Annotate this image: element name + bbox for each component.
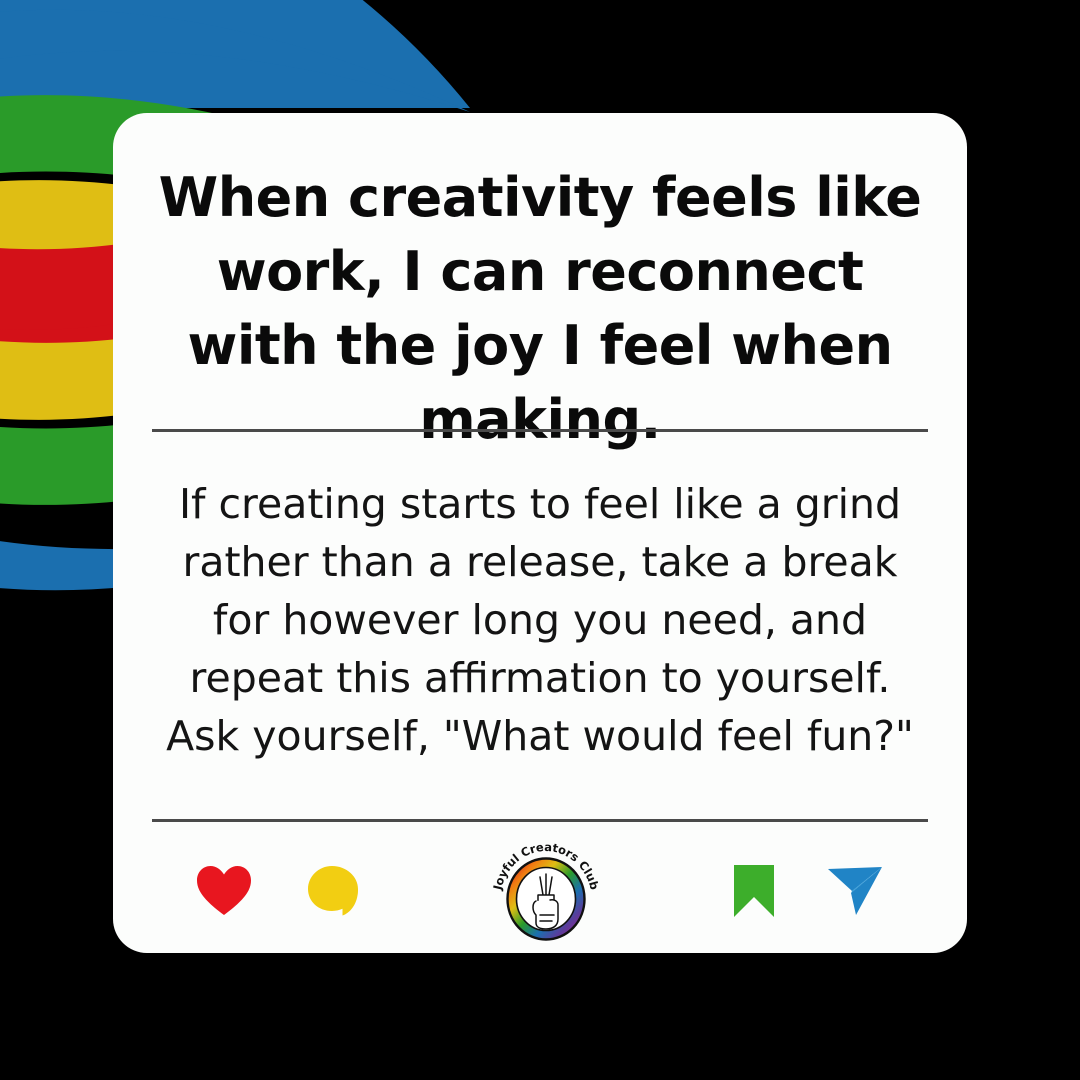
page-title: When creativity feels like work, I can r… [152, 161, 928, 457]
bookmark-icon[interactable] [732, 863, 776, 919]
action-bar: Joyful Creators Club [152, 829, 928, 953]
heart-icon[interactable] [196, 865, 252, 917]
divider-bottom [152, 819, 928, 822]
action-bar-right [732, 863, 884, 919]
speech-bubble-icon[interactable] [306, 864, 360, 918]
send-icon[interactable] [826, 863, 884, 919]
post-canvas: When creativity feels like work, I can r… [0, 0, 1080, 1080]
affirmation-card: When creativity feels like work, I can r… [113, 113, 967, 953]
body-text: If creating starts to feel like a grind … [160, 475, 920, 765]
brand-logo[interactable]: Joyful Creators Club [360, 835, 732, 947]
card-content: When creativity feels like work, I can r… [152, 113, 928, 953]
divider-top [152, 429, 928, 432]
action-bar-left [196, 864, 360, 918]
